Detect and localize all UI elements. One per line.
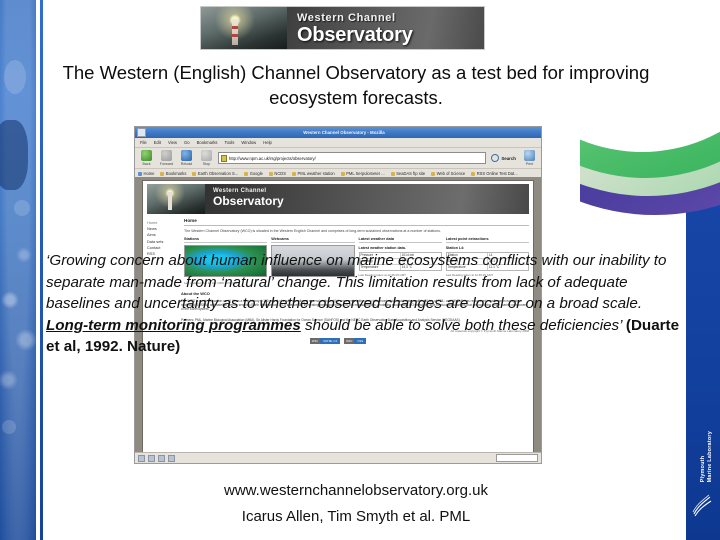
status-progress-box <box>496 454 538 462</box>
bookmark-label: Google <box>250 171 263 176</box>
bookmark-pml-serpulometer[interactable]: PML Serpulometer ... <box>341 171 385 176</box>
lighthouse-stripe-icon <box>232 26 238 29</box>
forward-button[interactable]: Forward <box>158 150 175 167</box>
banner-line2: Observatory <box>297 24 413 46</box>
folder-icon <box>341 172 345 176</box>
folder-icon <box>471 172 475 176</box>
menu-item-view[interactable]: View <box>168 140 177 145</box>
column-header: Latest point extractions <box>446 237 529 243</box>
bookmark-label: Earth Observation S... <box>198 171 238 176</box>
slide-footer: www.westernchannelobservatory.org.uk Ica… <box>56 478 656 530</box>
search-button[interactable]: Search <box>489 154 518 162</box>
quote-part1: ‘Growing concern about human influence o… <box>46 252 666 312</box>
column-header: Stations <box>184 237 267 243</box>
lighthouse-photo <box>201 7 287 49</box>
browser-window-title: Western Channel Observatory - Mozilla <box>149 130 539 135</box>
bookmark-pml-weather-station[interactable]: PML weather station <box>292 171 335 176</box>
window-app-icon <box>137 128 146 137</box>
banner-line1: Western Channel <box>297 12 396 24</box>
back-button-label: Back <box>143 162 151 166</box>
bookmark-label: NCDS <box>274 171 286 176</box>
address-bar[interactable]: http://www.npm.ac.uk/rsg/projects/observ… <box>218 152 486 164</box>
stop-icon <box>201 150 212 161</box>
column-header: Webcams <box>271 237 354 243</box>
search-icon <box>491 154 499 162</box>
printer-icon <box>524 150 535 161</box>
menu-item-edit[interactable]: Edit <box>154 140 161 145</box>
wco-banner-image: Western Channel Observatory <box>200 6 485 50</box>
webpage-banner-photo <box>147 184 205 214</box>
webpage-heading: Home <box>184 218 529 226</box>
band-shape <box>2 420 16 434</box>
menu-item-file[interactable]: File <box>140 140 147 145</box>
quote-emphasis: Long-term monitoring programmes <box>46 317 301 334</box>
pml-name-line1: Plymouth <box>700 455 706 482</box>
browser-navigation-toolbar: Back Forward Reload Stop http://www.npm.… <box>135 148 541 169</box>
folder-icon <box>431 172 435 176</box>
folder-icon <box>391 172 395 176</box>
bookmark-label: RSS Online Test Dat... <box>477 171 518 176</box>
webpage-lighthouse-icon <box>168 192 172 210</box>
back-arrow-icon <box>141 150 152 161</box>
left-decorative-band <box>0 0 36 540</box>
reload-button-label: Reload <box>181 162 192 166</box>
footer-url[interactable]: www.westernchannelobservatory.org.uk <box>56 478 656 504</box>
lighthouse-icon <box>232 19 238 45</box>
webpage-banner-line2: Observatory <box>213 195 284 208</box>
padlock-icon <box>221 155 227 162</box>
bookmark-label: Bookmarks <box>166 171 186 176</box>
search-button-label: Search <box>501 156 516 161</box>
browser-titlebar: Western Channel Observatory - Mozilla <box>135 127 541 138</box>
status-document-icon <box>138 455 145 462</box>
status-image-icon <box>148 455 155 462</box>
folder-icon <box>192 172 196 176</box>
page-title: The Western (English) Channel Observator… <box>56 60 656 110</box>
bookmark-rss-online-test[interactable]: RSS Online Test Dat... <box>471 171 517 176</box>
left-accent-stripe <box>40 0 43 540</box>
menu-item-help[interactable]: Help <box>263 140 272 145</box>
address-bar-value: http://www.npm.ac.uk/rsg/projects/observ… <box>229 156 316 161</box>
browser-statusbar <box>135 452 541 463</box>
bookmark-label: PML Serpulometer ... <box>346 171 385 176</box>
folder-icon <box>269 172 273 176</box>
bookmark-label: PML weather station <box>298 171 335 176</box>
folder-icon <box>244 172 248 176</box>
bookmark-label: Web of Science <box>437 171 466 176</box>
pml-wave-icon <box>692 492 712 518</box>
bookmark-earth-observation[interactable]: Earth Observation S... <box>192 171 238 176</box>
band-shape <box>4 60 26 94</box>
menu-item-go[interactable]: Go <box>184 140 190 145</box>
column-header: Latest weather data <box>359 237 442 243</box>
band-shape <box>14 200 30 216</box>
bookmark-label: SeaDAS ftp site <box>396 171 425 176</box>
forward-arrow-icon <box>161 150 172 161</box>
bookmark-label: Home <box>144 171 155 176</box>
forward-button-label: Forward <box>160 162 173 166</box>
menu-item-bookmarks[interactable]: Bookmarks <box>197 140 218 145</box>
stop-button-label: Stop <box>203 162 210 166</box>
print-button[interactable]: Print <box>521 150 538 167</box>
webpage-intro-text: The Western Channel Observatory (WCO) is… <box>184 229 529 234</box>
column-subheader: Station L4: <box>446 246 529 250</box>
menu-item-tools[interactable]: Tools <box>225 140 235 145</box>
webpage-banner: Western Channel Observatory <box>147 184 529 214</box>
pml-name-line2: Marine Laboratory <box>707 431 713 482</box>
browser-menubar: File Edit View Go Bookmarks Tools Window… <box>135 138 541 148</box>
bookmark-home[interactable]: Home <box>138 171 154 176</box>
column-subheader: Latest weather station data. <box>359 246 442 250</box>
menu-item-window[interactable]: Window <box>241 140 256 145</box>
bookmark-web-of-science[interactable]: Web of Science <box>431 171 465 176</box>
bookmark-seadas-ftp[interactable]: SeaDAS ftp site <box>391 171 425 176</box>
reload-button[interactable]: Reload <box>178 150 195 167</box>
status-security-icon <box>168 455 175 462</box>
footer-authors: Icarus Allen, Tim Smyth et al. PML <box>56 504 656 530</box>
status-popup-icon <box>158 455 165 462</box>
lighthouse-stripe-icon <box>232 34 238 37</box>
reload-icon <box>181 150 192 161</box>
bookmark-bookmarks[interactable]: Bookmarks <box>160 171 186 176</box>
band-shape <box>0 120 28 190</box>
quotation-overlay: ‘Growing concern about human influence o… <box>46 250 686 358</box>
print-button-label: Print <box>526 162 533 166</box>
back-button[interactable]: Back <box>138 150 155 167</box>
bookmark-google[interactable]: Google <box>244 171 263 176</box>
bookmark-ncds[interactable]: NCDS <box>269 171 286 176</box>
folder-icon <box>292 172 296 176</box>
pml-org-name: Plymouth Marine Laboratory <box>700 431 714 482</box>
pml-logo: Plymouth Marine Laboratory <box>688 406 718 526</box>
quote-part2: should be able to solve both these defic… <box>301 317 626 334</box>
stop-button[interactable]: Stop <box>198 150 215 167</box>
home-icon <box>138 172 142 176</box>
folder-icon <box>160 172 164 176</box>
